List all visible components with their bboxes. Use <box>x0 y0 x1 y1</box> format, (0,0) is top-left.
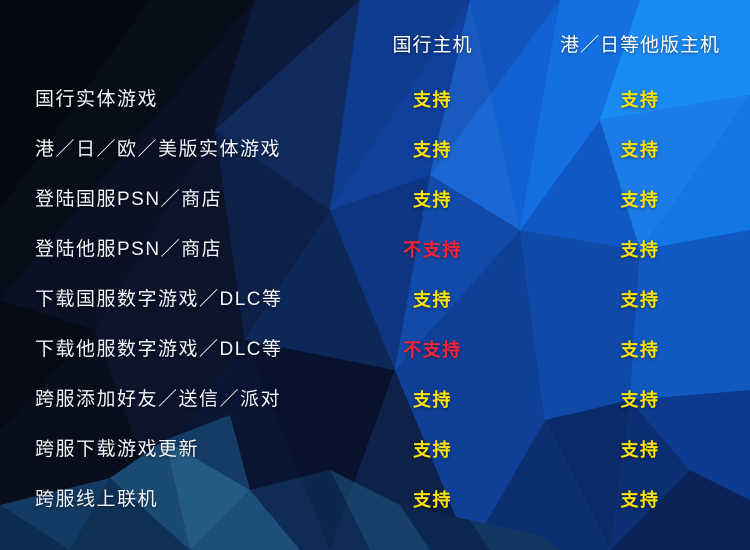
cell-domestic: 不支持 <box>360 225 505 275</box>
cell-overseas: 支持 <box>530 125 750 175</box>
row-label: 跨服线上联机 <box>35 475 158 525</box>
table-row: 下载他服数字游戏／DLC等不支持支持 <box>0 325 750 375</box>
cell-overseas: 支持 <box>530 375 750 425</box>
cell-domestic: 支持 <box>360 275 505 325</box>
table-row: 下载国服数字游戏／DLC等支持支持 <box>0 275 750 325</box>
cell-domestic: 支持 <box>360 75 505 125</box>
cell-domestic: 不支持 <box>360 325 505 375</box>
row-label: 国行实体游戏 <box>35 75 158 125</box>
cell-overseas: 支持 <box>530 175 750 225</box>
cell-domestic: 支持 <box>360 475 505 525</box>
table-row: 国行实体游戏支持支持 <box>0 75 750 125</box>
cell-domestic: 支持 <box>360 425 505 475</box>
cell-domestic: 支持 <box>360 175 505 225</box>
row-label: 跨服添加好友／送信／派对 <box>35 375 281 425</box>
table-body: 国行实体游戏支持支持港／日／欧／美版实体游戏支持支持登陆国服PSN／商店支持支持… <box>0 75 750 525</box>
table-row: 登陆他服PSN／商店不支持支持 <box>0 225 750 275</box>
row-label: 下载国服数字游戏／DLC等 <box>35 275 283 325</box>
cell-overseas: 支持 <box>530 325 750 375</box>
row-label: 登陆国服PSN／商店 <box>35 175 222 225</box>
cell-overseas: 支持 <box>530 225 750 275</box>
cell-domestic: 支持 <box>360 125 505 175</box>
cell-overseas: 支持 <box>530 75 750 125</box>
table-row: 跨服添加好友／送信／派对支持支持 <box>0 375 750 425</box>
table-row: 跨服线上联机支持支持 <box>0 475 750 525</box>
cell-overseas: 支持 <box>530 475 750 525</box>
column-header-overseas: 港／日等他版主机 <box>530 30 750 62</box>
table-row: 登陆国服PSN／商店支持支持 <box>0 175 750 225</box>
comparison-infographic: 国行主机 港／日等他版主机 国行实体游戏支持支持港／日／欧／美版实体游戏支持支持… <box>0 0 750 550</box>
row-label: 下载他服数字游戏／DLC等 <box>35 325 283 375</box>
row-label: 跨服下载游戏更新 <box>35 425 199 475</box>
table-row: 港／日／欧／美版实体游戏支持支持 <box>0 125 750 175</box>
row-label: 港／日／欧／美版实体游戏 <box>35 125 281 175</box>
column-header-domestic: 国行主机 <box>360 30 505 62</box>
cell-overseas: 支持 <box>530 275 750 325</box>
table-row: 跨服下载游戏更新支持支持 <box>0 425 750 475</box>
table-header-row: 国行主机 港／日等他版主机 <box>0 30 750 62</box>
cell-domestic: 支持 <box>360 375 505 425</box>
row-label: 登陆他服PSN／商店 <box>35 225 222 275</box>
cell-overseas: 支持 <box>530 425 750 475</box>
